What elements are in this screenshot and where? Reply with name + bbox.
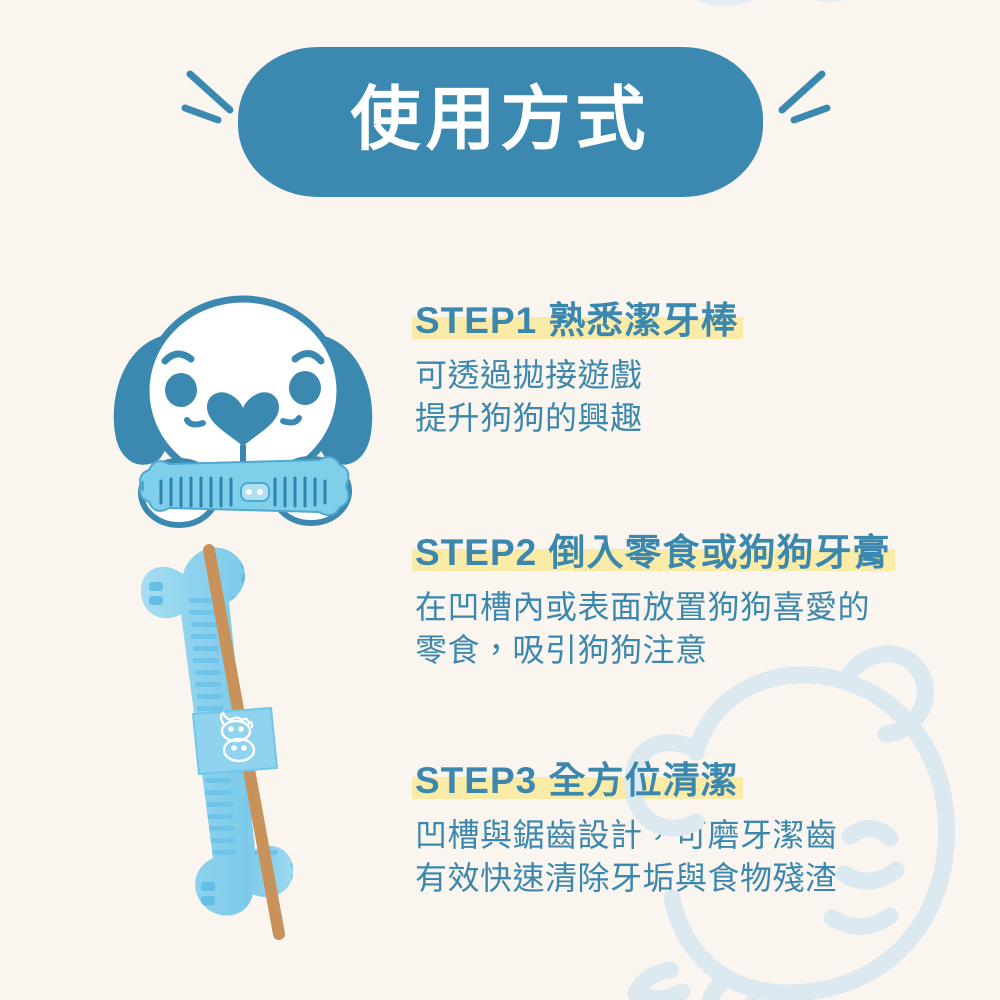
held-chew-toy-icon <box>140 457 348 515</box>
step-item: STEP3 全方位清潔 凹槽與鋸齒設計，可磨牙潔齒 有效快速清除牙垢與食物殘渣 <box>415 760 975 899</box>
page-header: 使用方式 <box>0 36 1000 206</box>
step1-heading-wrap: STEP1 熟悉潔牙棒 <box>415 300 739 341</box>
center-band-with-logo-icon <box>193 708 277 774</box>
step1-body: 可透過拋接遊戲 提升狗狗的興趣 <box>415 354 975 438</box>
title-banner: 使用方式 <box>238 47 763 197</box>
dog-holding-chew-toy-illustration <box>103 283 383 533</box>
step3-heading-wrap: STEP3 全方位清潔 <box>415 760 739 801</box>
step2-heading: STEP2 倒入零食或狗狗牙膏 <box>415 532 891 573</box>
step2-body: 在凹槽內或表面放置狗狗喜愛的 零食，吸引狗狗注意 <box>415 586 975 670</box>
step2-heading-wrap: STEP2 倒入零食或狗狗牙膏 <box>415 532 891 573</box>
step3-body: 凹槽與鋸齒設計，可磨牙潔齒 有效快速清除牙垢與食物殘渣 <box>415 814 975 898</box>
dental-chew-bone-product-photo <box>131 538 351 940</box>
dog-left-eye-icon <box>165 373 197 407</box>
step3-heading: STEP3 全方位清潔 <box>415 760 739 801</box>
sparkle-lines-right-icon <box>742 36 832 126</box>
step1-heading: STEP1 熟悉潔牙棒 <box>415 300 739 341</box>
infographic-page: 使用方式 <box>0 0 1000 1000</box>
step-item: STEP1 熟悉潔牙棒 可透過拋接遊戲 提升狗狗的興趣 <box>415 300 975 439</box>
top-edge-fleck-icon <box>800 0 860 10</box>
page-title: 使用方式 <box>238 47 763 197</box>
dog-right-eye-icon <box>289 371 321 405</box>
top-edge-fleck-icon <box>690 0 760 14</box>
step-item: STEP2 倒入零食或狗狗牙膏 在凹槽內或表面放置狗狗喜愛的 零食，吸引狗狗注意 <box>415 532 975 671</box>
